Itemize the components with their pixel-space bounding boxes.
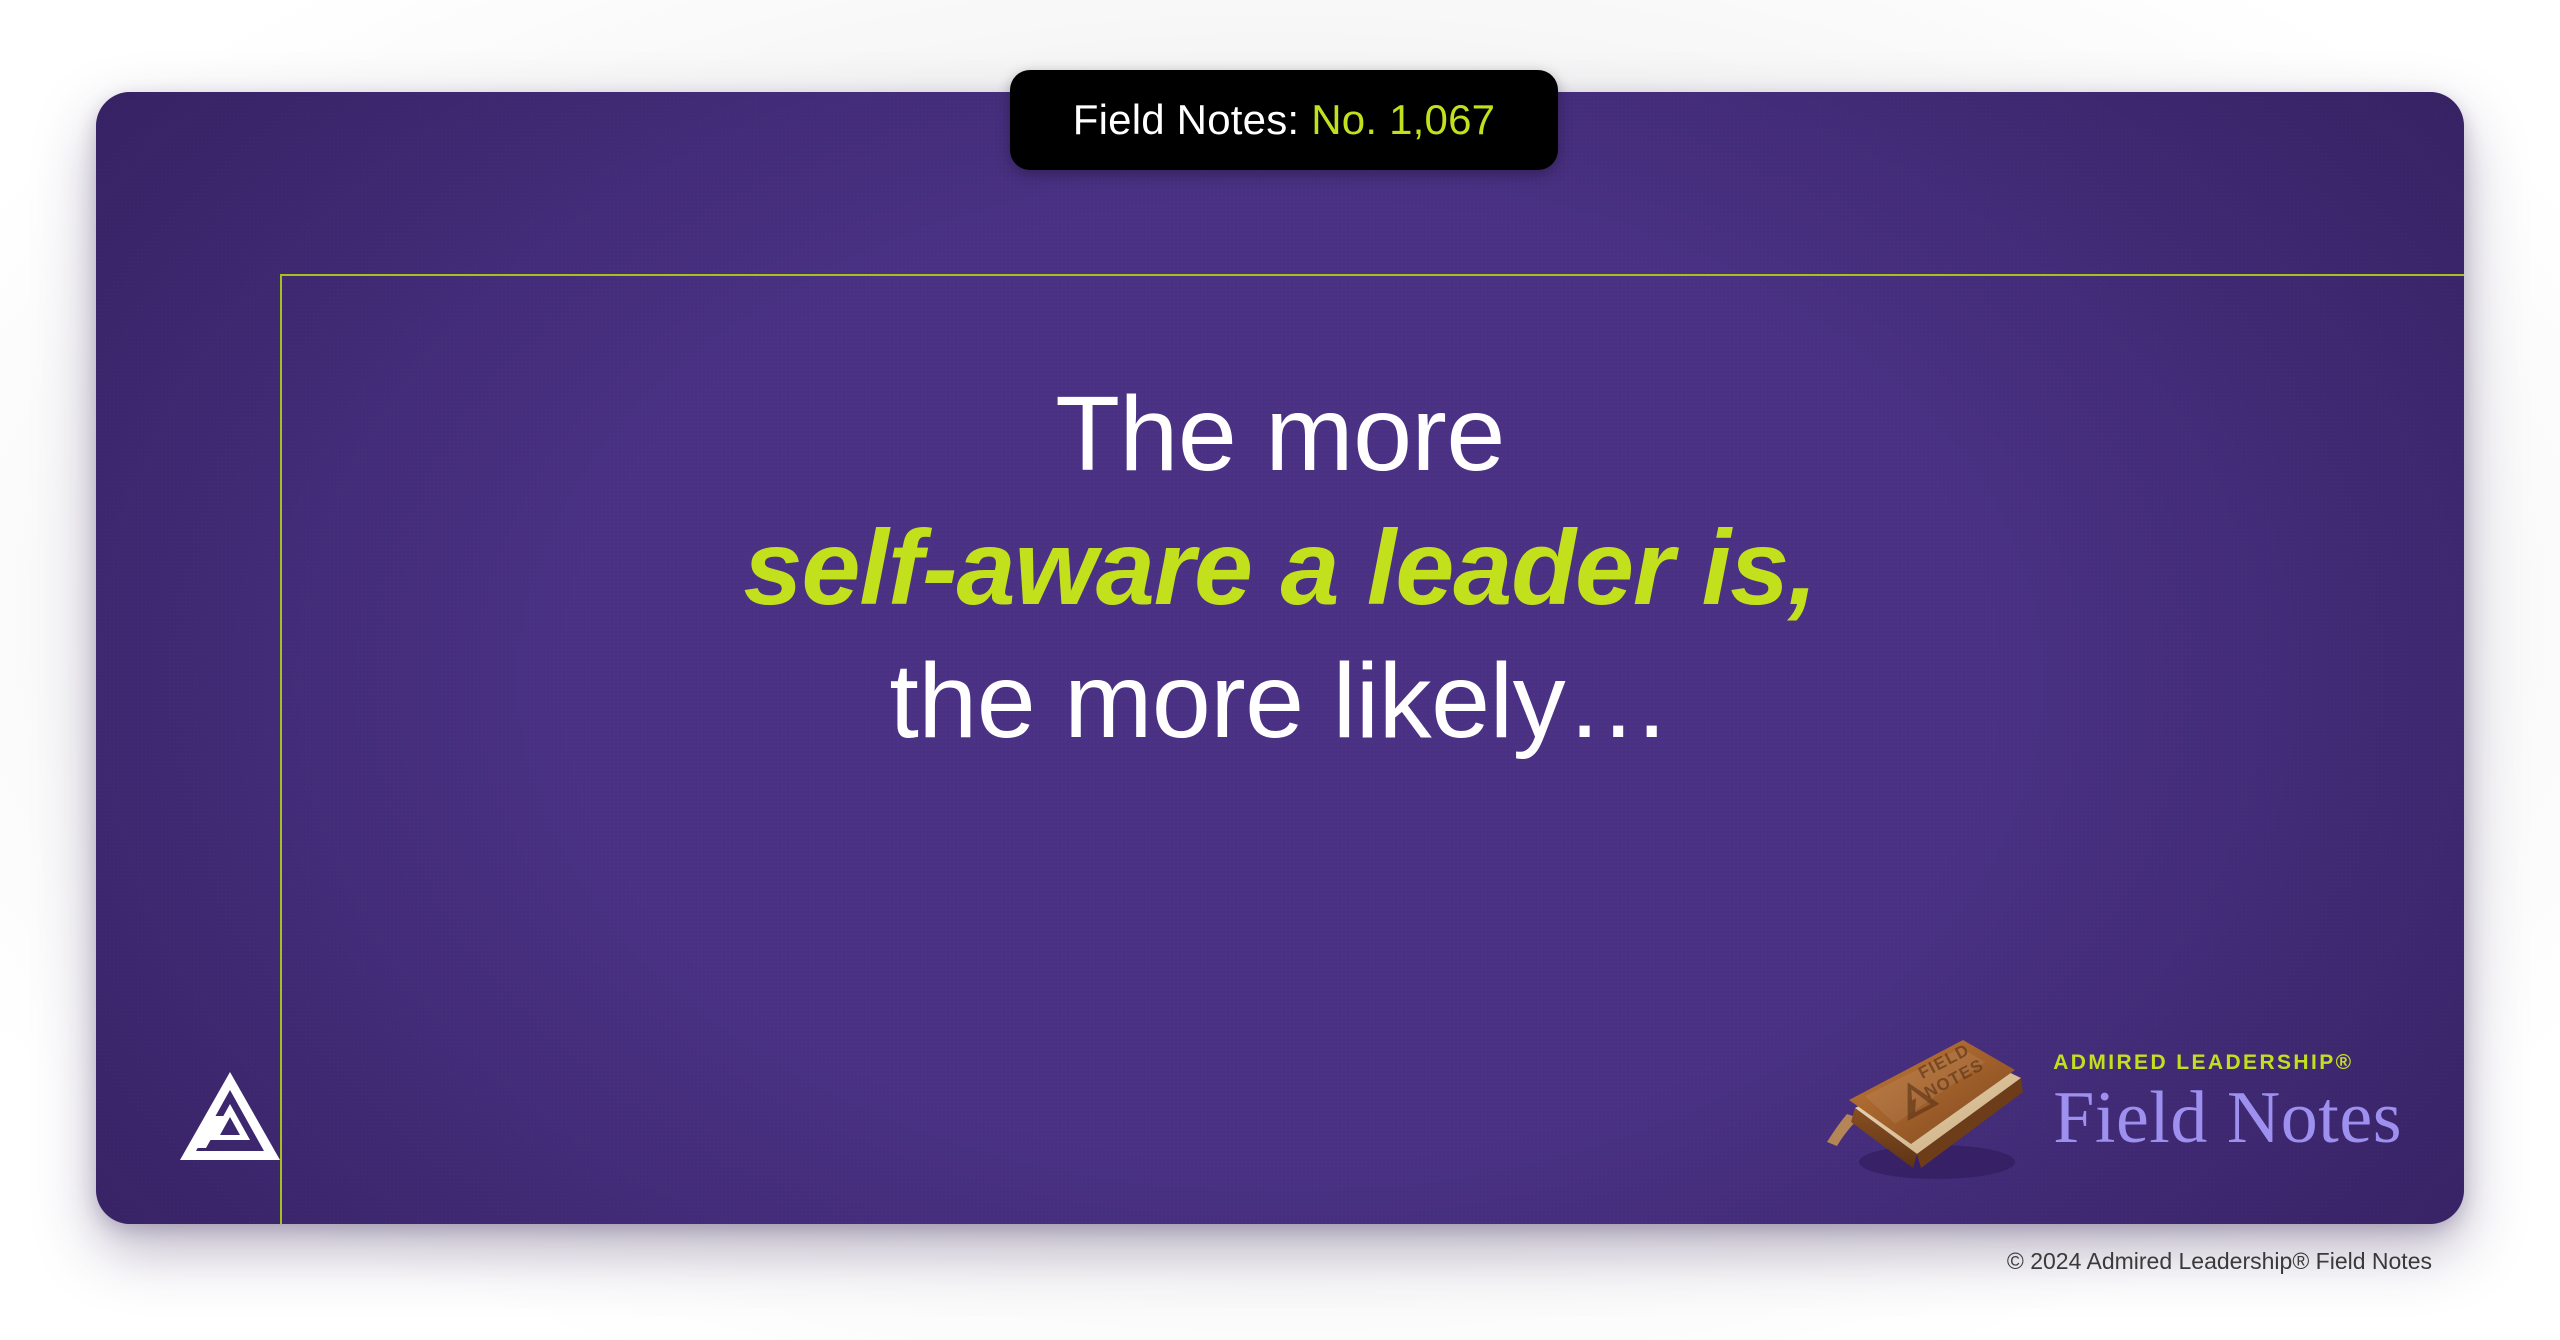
brand-wordmark: ADMIRED LEADERSHIP® Field Notes [2053, 1052, 2402, 1161]
badge-issue-number: No. 1,067 [1311, 99, 1495, 141]
quote-line-2-highlight: self-aware a leader is, [0, 502, 2560, 636]
badge-label: Field Notes: [1073, 99, 1300, 141]
brand-name-admired-leadership: ADMIRED LEADERSHIP® [2053, 1052, 2353, 1073]
brand-lockup: FIELD NOTES ADMIRED LEADERSHIP® Field No… [1825, 1022, 2402, 1190]
quote-block: The more self-aware a leader is, the mor… [0, 368, 2560, 769]
quote-line-1: The more [0, 368, 2560, 502]
admired-leadership-logo-icon [178, 1070, 282, 1162]
brand-name-field-notes: Field Notes [2053, 1081, 2402, 1155]
issue-number-badge: Field Notes: No. 1,067 [1010, 70, 1558, 170]
field-notes-notebook-icon: FIELD NOTES [1825, 1022, 2035, 1190]
copyright-notice: © 2024 Admired Leadership® Field Notes [2007, 1248, 2432, 1275]
quote-line-3: the more likely… [0, 635, 2560, 769]
